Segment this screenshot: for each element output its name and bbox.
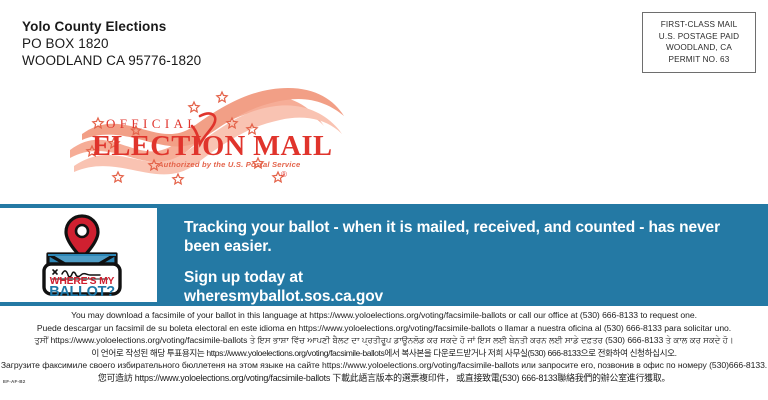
- notice-line-chinese: 您可造訪 https://www.yoloelections.org/votin…: [0, 372, 768, 385]
- return-address-organization: Yolo County Elections: [22, 18, 201, 35]
- permit-line-postage-paid: U.S. POSTAGE PAID: [645, 31, 753, 43]
- return-address-city-state-zip: WOODLAND CA 95776-1820: [22, 52, 201, 69]
- banner-signup-line1: Sign up today at: [184, 268, 744, 287]
- logo-subtitle-authorized: Authorized by the U.S. Postal Service: [157, 160, 301, 169]
- notice-line-punjabi: ਤੁਸੀਂ https://www.yoloelections.org/voti…: [0, 334, 768, 347]
- official-election-mail-logo: OFFICIAL ELECTION MAIL Authorized by the…: [62, 82, 362, 186]
- banner-signup-url[interactable]: wheresmyballot.sos.ca.gov: [184, 287, 744, 306]
- notice-line-korean: 이 언어로 작성된 해당 투표용지는 https://www.yoloelect…: [0, 347, 768, 360]
- wmb-logo-line2: BALLOT?: [49, 284, 115, 300]
- permit-line-city: WOODLAND, CA: [645, 42, 753, 54]
- return-address-po-box: PO BOX 1820: [22, 35, 201, 52]
- multilingual-facsimile-notice: You may download a facsimile of your bal…: [0, 309, 768, 385]
- permit-line-mail-class: FIRST-CLASS MAIL: [645, 19, 753, 31]
- wheres-my-ballot-logo: WHERE'S MY BALLOT?: [22, 212, 142, 300]
- banner-headline: Tracking your ballot - when it is mailed…: [184, 218, 744, 256]
- return-address-block: Yolo County Elections PO BOX 1820 WOODLA…: [22, 18, 201, 69]
- map-pin-icon: [66, 216, 98, 258]
- notice-line-spanish: Puede descargar un facsimil de su boleta…: [0, 322, 768, 335]
- form-corner-code: EF-AF-B2: [3, 379, 26, 384]
- banner-text-block: Tracking your ballot - when it is mailed…: [184, 218, 744, 306]
- permit-line-number: PERMIT NO. 63: [645, 54, 753, 66]
- notice-line-russian: Загрузите факсимиле своего избирательног…: [0, 359, 768, 372]
- wheres-my-ballot-banner: WHERE'S MY BALLOT? Tracking your ballot …: [0, 204, 768, 306]
- postage-permit-imprint: FIRST-CLASS MAIL U.S. POSTAGE PAID WOODL…: [642, 12, 756, 73]
- logo-text-official: OFFICIAL: [106, 116, 200, 131]
- banner-logo-panel: WHERE'S MY BALLOT?: [0, 208, 157, 302]
- notice-line-english: You may download a facsimile of your bal…: [0, 309, 768, 322]
- logo-text-election-mail: ELECTION MAIL: [92, 131, 332, 162]
- registered-trademark-icon: ®: [281, 170, 287, 179]
